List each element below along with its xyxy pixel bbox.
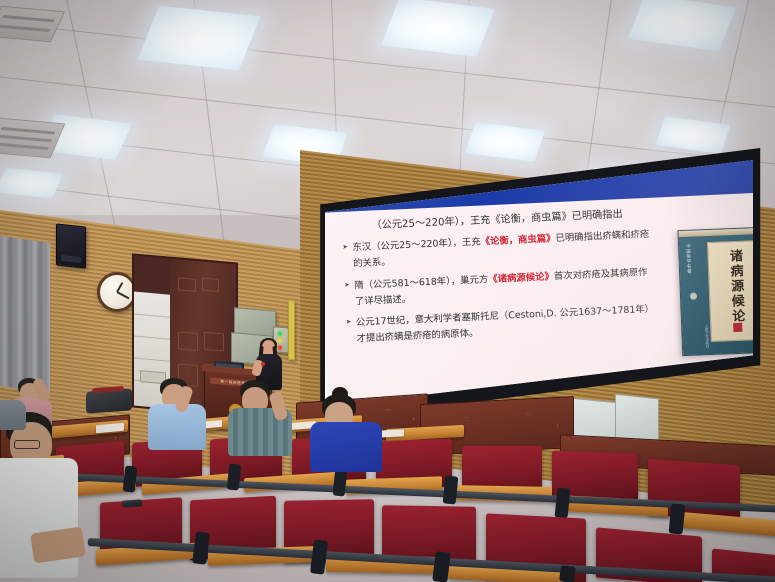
seat-arm-clip <box>443 475 459 504</box>
book-seal <box>733 323 742 332</box>
lecture-hall-photo: 课程思政 疥螨病发展史 （公元25～220年），王充《论衡，商虫篇》已明确指出 … <box>0 0 775 582</box>
ceiling-light <box>0 167 63 198</box>
ceiling-light <box>137 6 260 71</box>
ceiling-light <box>381 0 495 57</box>
torso <box>310 422 382 472</box>
presentation-slide: 课程思政 疥螨病发展史 （公元25～220年），王充《论衡，商虫篇》已明确指出 … <box>325 157 753 413</box>
projection-screen[interactable]: 课程思政 疥螨病发展史 （公元25～220年），王充《论衡，商虫篇》已明确指出 … <box>318 148 762 423</box>
torso <box>0 400 26 430</box>
book-publisher-text: 人民卫生出版社 <box>700 324 710 348</box>
seat-arm-clip <box>668 503 685 534</box>
bullet-2-pre: 隋（公元581～618年），巢元方 <box>354 274 489 291</box>
bag-strap <box>92 386 124 393</box>
book-top-edge <box>678 228 753 238</box>
bullet-1-pre: 东汉（公元25～220年），王充 <box>352 237 481 254</box>
presenter-badge-pin <box>261 362 265 366</box>
audience-member-5 <box>310 392 388 470</box>
ceiling-light <box>628 0 736 51</box>
book-title-plate: 诸病源候论 <box>707 240 753 342</box>
seat-tablet-arm <box>676 511 775 536</box>
audience-member-4 <box>228 380 298 454</box>
bullet-1-emphasis: 《论衡，商虫篇》 <box>480 233 555 247</box>
bullet-3-pre: 公元17世纪，意大利学者塞斯托尼（Cestoni,D. 公元1637～1781年… <box>356 304 655 345</box>
book-spine-text: 中国医学名著 <box>686 245 696 276</box>
bullet-2-emphasis: 《诸病源候论》 <box>488 271 554 285</box>
indicator-lamp-green <box>278 332 282 336</box>
lead-prefix: （公元25～220年） <box>371 216 460 231</box>
glasses <box>14 440 40 449</box>
seat-arm-clip <box>554 487 570 518</box>
audience-member-3 <box>148 378 214 450</box>
conduit <box>288 300 295 361</box>
torso <box>148 404 206 450</box>
backpack-on-desk <box>86 388 132 413</box>
screen-display-area: 课程思政 疥螨病发展史 （公元25～220年），王充《论衡，商虫篇》已明确指出 … <box>325 157 753 413</box>
seat-arm-clip <box>559 565 576 582</box>
book-cover-image: 中国医学名著 诸病源候论 人民卫生出版社 <box>677 227 753 357</box>
wall-speaker <box>56 223 86 268</box>
smartphone-on-desk[interactable] <box>122 499 142 507</box>
audience-member-2 <box>0 412 82 582</box>
book-decoration-dot <box>690 293 697 300</box>
air-vent <box>0 6 65 42</box>
lead-text: ，王充《论衡，商虫篇》已明确指出 <box>460 209 623 227</box>
audience-member-6 <box>0 388 28 428</box>
book-title-text: 诸病源候论 <box>725 249 747 325</box>
window-curtain <box>0 236 50 393</box>
wall-clock <box>97 272 137 312</box>
